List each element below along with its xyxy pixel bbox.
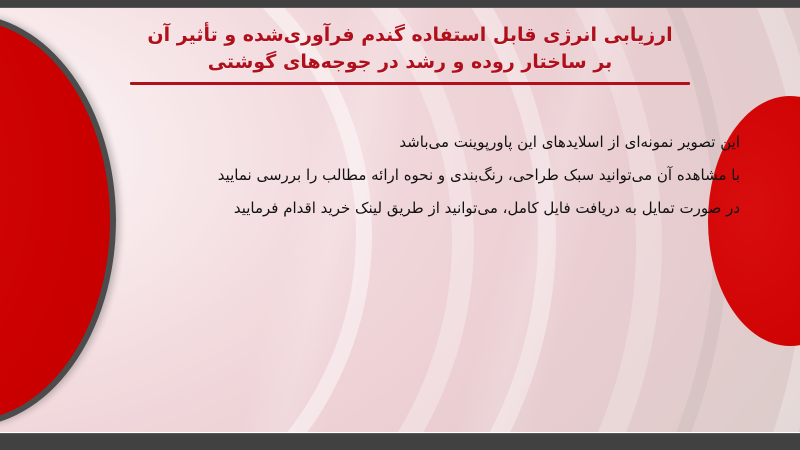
title-divider-rule: [130, 82, 690, 85]
slide-title-line-2: بر ساختار روده و رشد در جوجه‌های گوشتی: [130, 49, 690, 76]
slide-title: ارزیابی انرژی قابل استفاده گندم فرآوری‌ش…: [130, 22, 690, 76]
presentation-frame: ارزیابی انرژی قابل استفاده گندم فرآوری‌ش…: [0, 0, 800, 450]
slide-bottom-edge: [0, 432, 800, 433]
slide-canvas: ارزیابی انرژی قابل استفاده گندم فرآوری‌ش…: [0, 8, 800, 433]
slide-body: این تصویر نمونه‌ای از اسلایدهای این پاور…: [100, 126, 740, 225]
slide-body-line-1: این تصویر نمونه‌ای از اسلایدهای این پاور…: [100, 126, 740, 159]
slide-body-line-2: با مشاهده آن می‌توانید سبک طراحی، رنگ‌بن…: [100, 159, 740, 192]
slide-body-line-3: در صورت تمایل به دریافت فایل کامل، می‌تو…: [100, 192, 740, 225]
slide-title-line-1: ارزیابی انرژی قابل استفاده گندم فرآوری‌ش…: [130, 22, 690, 49]
